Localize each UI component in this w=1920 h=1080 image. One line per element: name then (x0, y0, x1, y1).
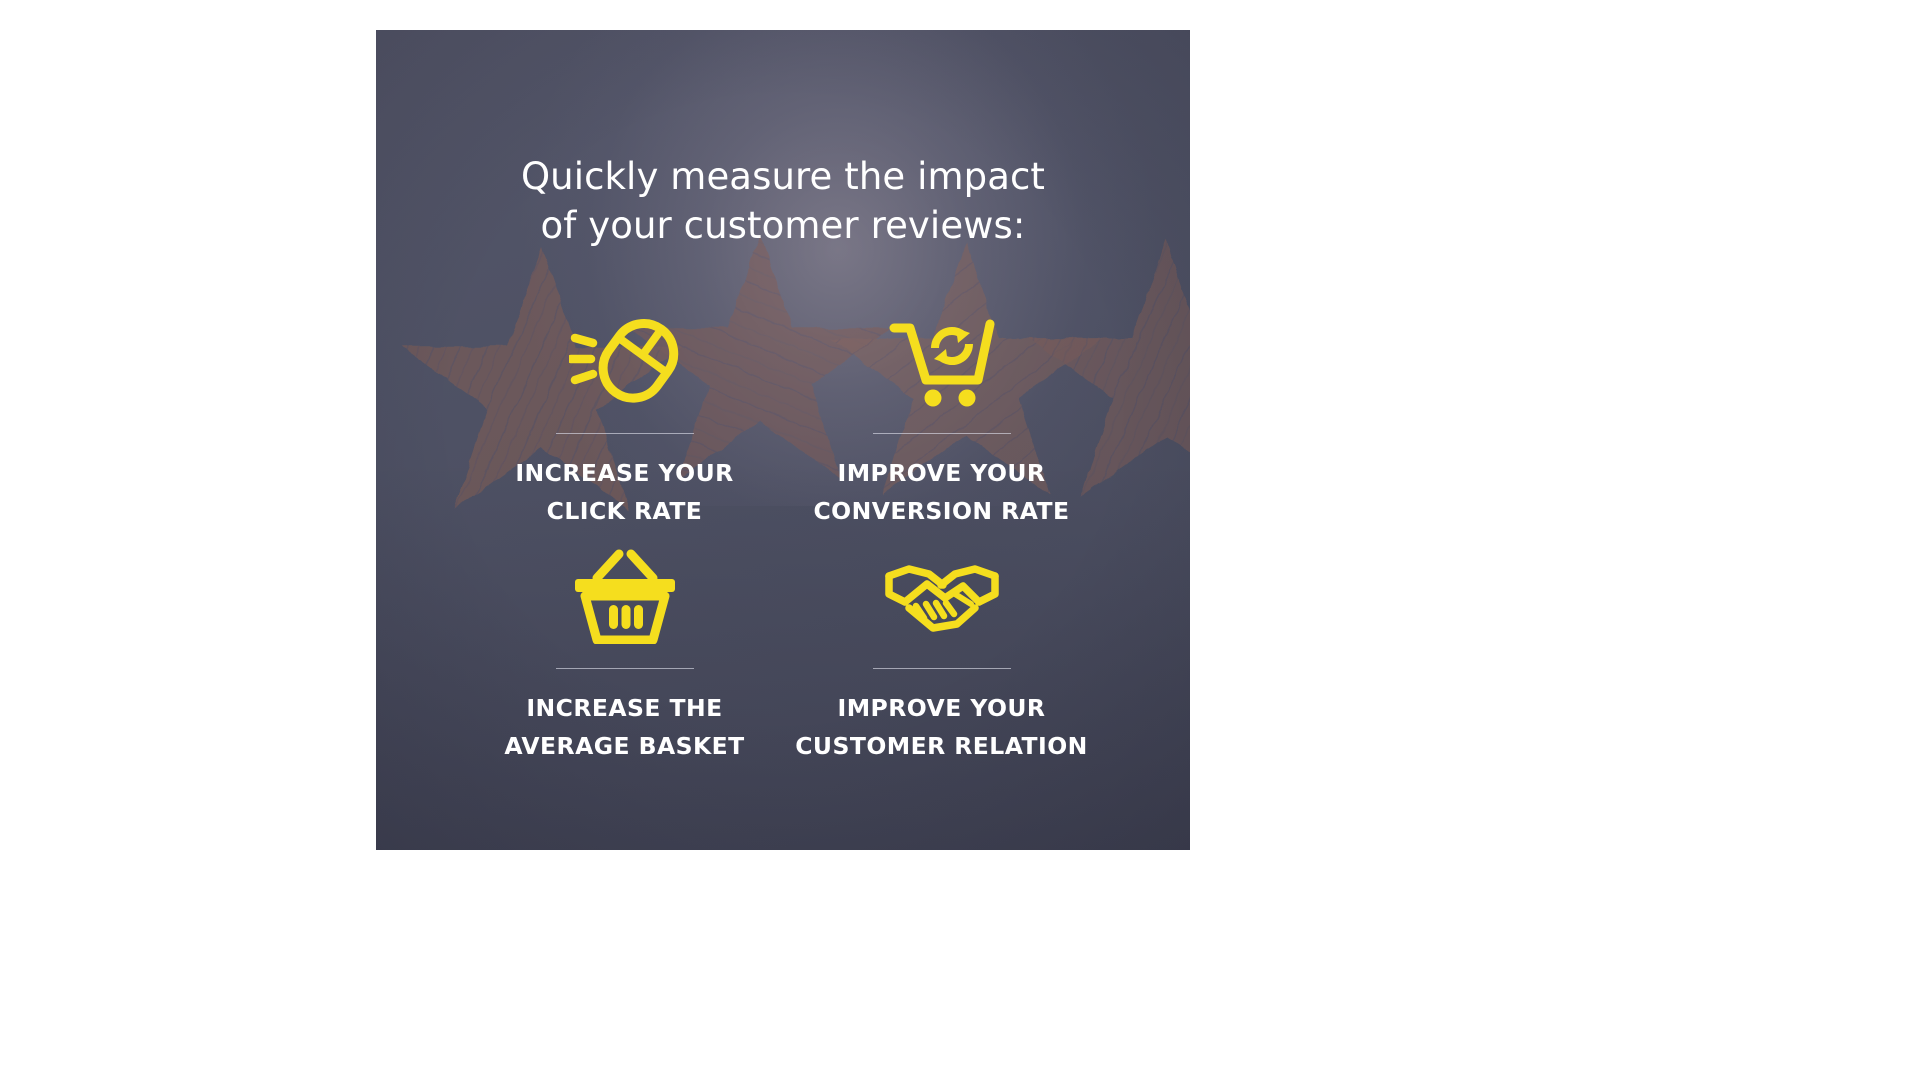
benefit-label-line-2: CUSTOMER RELATION (795, 727, 1088, 765)
benefit-label: IMPROVE YOUR CUSTOMER RELATION (795, 689, 1088, 765)
benefit-label-line-1: INCREASE THE (504, 689, 744, 727)
screenshot-canvas: Quickly measure the impact of your custo… (0, 0, 1920, 1080)
benefit-divider (556, 668, 694, 669)
page-title: Quickly measure the impact of your custo… (376, 152, 1190, 250)
benefit-divider (873, 668, 1011, 669)
benefit-average-basket: INCREASE THE AVERAGE BASKET (466, 544, 783, 765)
page-title-line-2: of your customer reviews: (376, 201, 1190, 250)
benefit-click-rate: INCREASE YOUR CLICK RATE (466, 305, 783, 530)
benefit-label-line-1: IMPROVE YOUR (813, 454, 1069, 492)
benefit-customer-relation: IMPROVE YOUR CUSTOMER RELATION (783, 544, 1100, 765)
benefit-divider (556, 433, 694, 434)
benefit-label-line-2: CONVERSION RATE (813, 492, 1069, 530)
benefit-conversion-rate: IMPROVE YOUR CONVERSION RATE (783, 305, 1100, 530)
benefit-label: INCREASE THE AVERAGE BASKET (504, 689, 744, 765)
page-title-line-1: Quickly measure the impact (376, 152, 1190, 201)
benefit-label: IMPROVE YOUR CONVERSION RATE (813, 454, 1069, 530)
benefit-label-line-1: INCREASE YOUR (515, 454, 733, 492)
benefit-label-line-2: AVERAGE BASKET (504, 727, 744, 765)
promo-graphic-panel: Quickly measure the impact of your custo… (376, 30, 1190, 850)
benefit-label-line-1: IMPROVE YOUR (795, 689, 1088, 727)
shopping-basket-icon (569, 544, 681, 648)
shopping-cart-refresh-icon (886, 305, 998, 413)
benefit-divider (873, 433, 1011, 434)
benefits-grid: INCREASE YOUR CLICK RATE (466, 305, 1100, 765)
handshake-icon (883, 544, 1001, 648)
benefit-label: INCREASE YOUR CLICK RATE (515, 454, 733, 530)
computer-mouse-click-icon (569, 305, 681, 413)
benefit-label-line-2: CLICK RATE (515, 492, 733, 530)
